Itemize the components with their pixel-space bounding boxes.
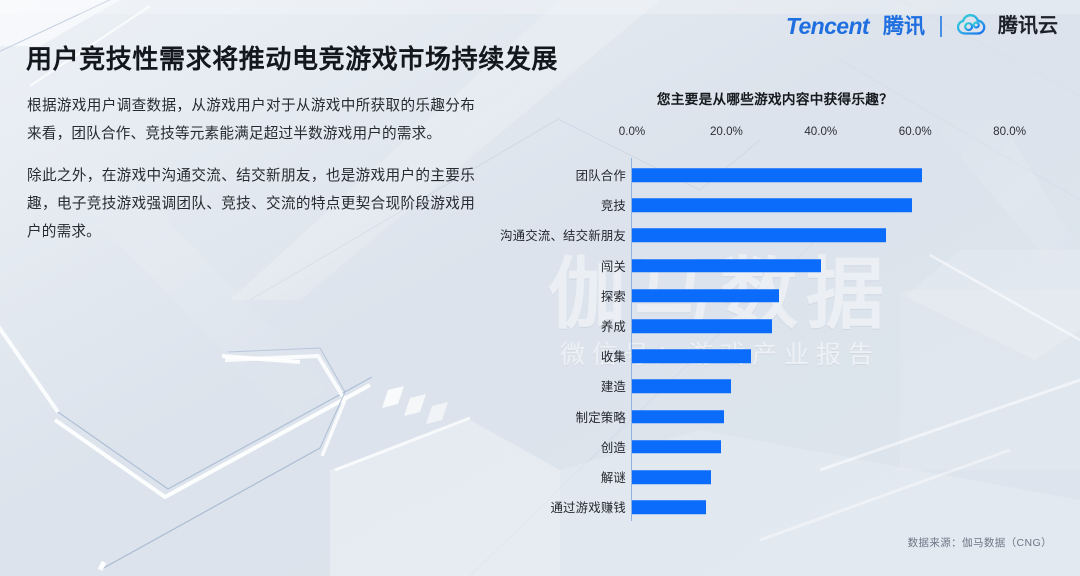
chart-bar (632, 440, 721, 454)
chart-category-label: 解谜 (601, 468, 626, 486)
chart-category-label: 竞技 (601, 196, 626, 214)
tencent-cloud-icon (957, 14, 987, 38)
chart-bar-row: 解谜 (474, 462, 1070, 492)
x-axis-tick-label: 0.0% (619, 125, 645, 138)
tencent-wordmark: Tencent (786, 15, 869, 38)
page-title: 用户竞技性需求将推动电竞游戏市场持续发展 (26, 43, 558, 76)
chart-category-label: 制定策略 (576, 408, 626, 426)
chart-category-label: 建造 (601, 377, 626, 395)
chart-category-label: 沟通交流、结交新朋友 (500, 226, 626, 244)
cloud-icon-svg (957, 14, 987, 38)
chart-bar (632, 470, 711, 484)
bar-chart: 您主要是从哪些游戏内容中获得乐趣？ 0.0%20.0%40.0%60.0%80.… (474, 88, 1070, 538)
chart-bar-row: 养成 (474, 311, 1070, 341)
chart-category-label: 养成 (601, 317, 626, 335)
chart-category-label: 通过游戏赚钱 (550, 498, 626, 516)
chart-bar-row: 探索 (474, 281, 1070, 311)
x-axis-tick-label: 60.0% (899, 125, 932, 138)
chart-bar-row: 制定策略 (474, 402, 1070, 432)
chart-bar-row: 沟通交流、结交新朋友 (474, 220, 1070, 250)
chart-bar (632, 259, 821, 273)
chart-bar (632, 168, 922, 182)
brand-logo-bar: Tencent 腾讯 腾讯云 (786, 11, 1058, 41)
chart-bar (632, 501, 706, 515)
chart-category-label: 闯关 (601, 257, 626, 275)
chart-bar (632, 289, 779, 303)
chart-category-label: 创造 (601, 438, 626, 456)
chart-bar-row: 通过游戏赚钱 (474, 492, 1070, 522)
x-axis-tick-label: 20.0% (710, 125, 743, 138)
chart-bar-row: 收集 (474, 341, 1070, 371)
chart-bar-row: 闯关 (474, 251, 1070, 281)
source-note: 数据来源：伽马数据（CNG） (908, 535, 1052, 550)
chart-bar (632, 410, 724, 424)
x-axis-tick-label: 80.0% (993, 125, 1026, 138)
chart-bar (632, 319, 772, 333)
chart-bar (632, 229, 886, 243)
chart-bar-row: 建造 (474, 371, 1070, 401)
chart-bar (632, 199, 912, 213)
body-paragraph-2: 除此之外，在游戏中沟通交流、结交新朋友，也是游戏用户的主要乐趣，电子竞技游戏强调… (27, 162, 475, 246)
chart-bar (632, 380, 731, 394)
body-paragraph-1: 根据游戏用户调查数据，从游戏用户对于从游戏中所获取的乐趣分布来看，团队合作、竞技… (27, 92, 475, 148)
slide-canvas: Tencent 腾讯 腾讯云 用户竞技性需求将推动电竞游戏市场持续发展 根 (0, 0, 1080, 576)
chart-category-label: 收集 (601, 347, 626, 365)
tencent-cloud-wordmark: 腾讯云 (998, 16, 1058, 36)
chart-plot-area: 团队合作竞技沟通交流、结交新朋友闯关探索养成收集建造制定策略创造解谜通过游戏赚钱 (474, 158, 1070, 523)
chart-bar-row: 创造 (474, 432, 1070, 462)
chart-title: 您主要是从哪些游戏内容中获得乐趣？ (480, 88, 1070, 108)
body-copy: 根据游戏用户调查数据，从游戏用户对于从游戏中所获取的乐趣分布来看，团队合作、竞技… (27, 92, 475, 260)
chart-bar (632, 350, 751, 364)
chart-x-axis: 0.0%20.0%40.0%60.0%80.0% (474, 125, 1070, 143)
chart-bar-row: 竞技 (474, 190, 1070, 220)
x-axis-tick-label: 40.0% (804, 125, 837, 138)
chart-category-label: 团队合作 (576, 166, 626, 184)
chart-category-label: 探索 (601, 287, 626, 305)
logo-divider (940, 16, 942, 37)
chart-bar-row: 团队合作 (474, 160, 1070, 190)
tencent-wordmark-cn: 腾讯 (883, 16, 925, 37)
